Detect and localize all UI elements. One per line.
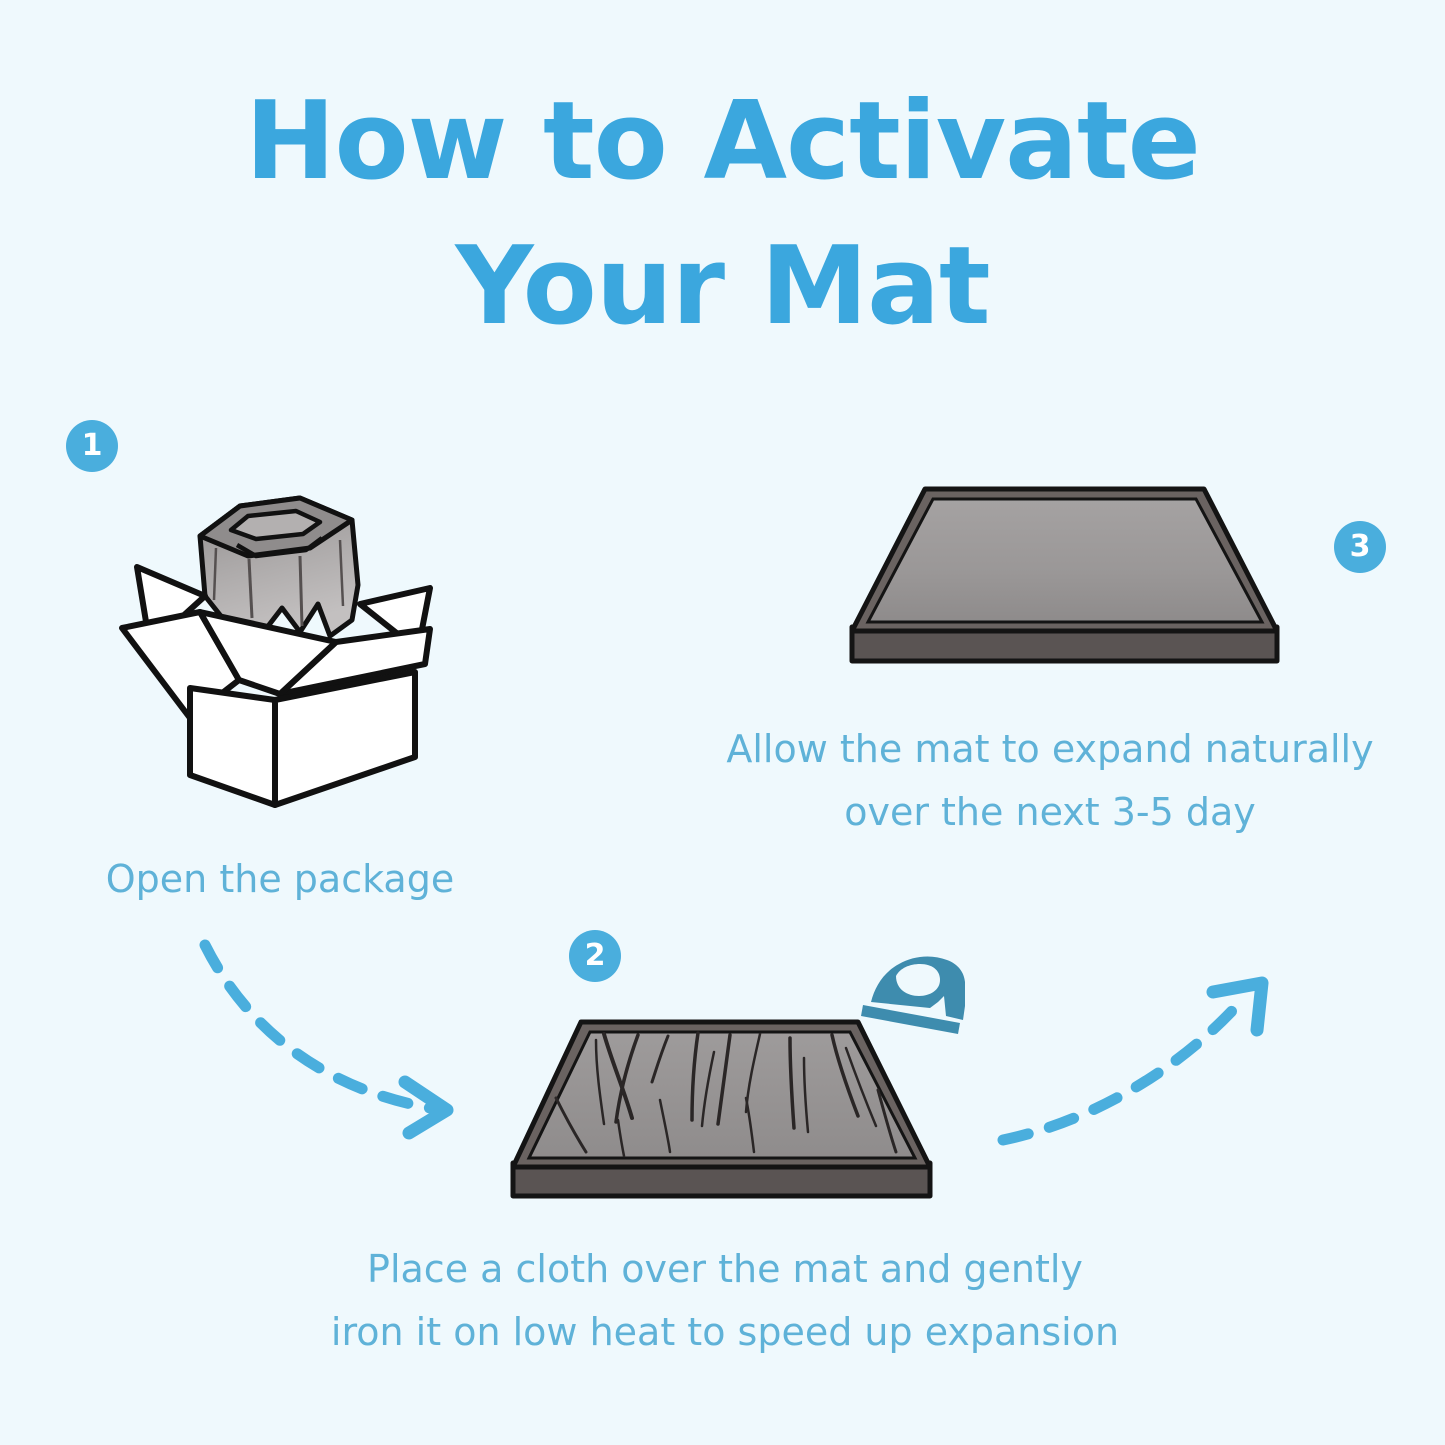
- step-badge-2[interactable]: 2: [569, 930, 621, 982]
- mat-wrinkled-icon: [513, 1022, 930, 1196]
- box-side-front: [275, 672, 415, 805]
- vacuum-pack-mat: [200, 498, 358, 636]
- step-3-caption-line-1: Allow the mat to expand naturally: [726, 727, 1373, 771]
- box-side-left: [190, 688, 275, 805]
- iron-icon: [861, 957, 965, 1034]
- step-3-caption-line-2: over the next 3-5 day: [844, 790, 1256, 834]
- box-flap-right: [280, 629, 430, 694]
- page-title-line-1: How to Activate: [0, 82, 1445, 203]
- box-flap-back-left: [137, 567, 205, 646]
- box-flap-front: [200, 612, 336, 694]
- step-1-caption-line-1: Open the package: [106, 857, 454, 901]
- page-title: How to Activate Your Mat: [0, 82, 1445, 348]
- arrow-step1-to-step2: [205, 945, 447, 1133]
- step-2-caption-line-1: Place a cloth over the mat and gently: [367, 1247, 1083, 1291]
- box-flap-left: [122, 612, 239, 718]
- arrow-step2-to-step3: [1003, 983, 1262, 1140]
- step-1-caption: Open the package: [40, 848, 520, 911]
- infographic-canvas: How to Activate Your Mat: [0, 0, 1445, 1445]
- step-2-caption-line-2: iron it on low heat to speed up expansio…: [331, 1310, 1119, 1354]
- cardboard-box-icon: [122, 498, 430, 805]
- mat-expanded-icon: [852, 489, 1277, 661]
- step-3-caption: Allow the mat to expand naturally over t…: [660, 718, 1440, 843]
- step-badge-3[interactable]: 3: [1334, 521, 1386, 573]
- step-badge-1[interactable]: 1: [66, 420, 118, 472]
- step-2-caption: Place a cloth over the mat and gently ir…: [240, 1238, 1210, 1363]
- page-title-line-2: Your Mat: [0, 227, 1445, 348]
- mat-creases: [556, 1033, 896, 1156]
- box-flap-back-right: [360, 588, 430, 650]
